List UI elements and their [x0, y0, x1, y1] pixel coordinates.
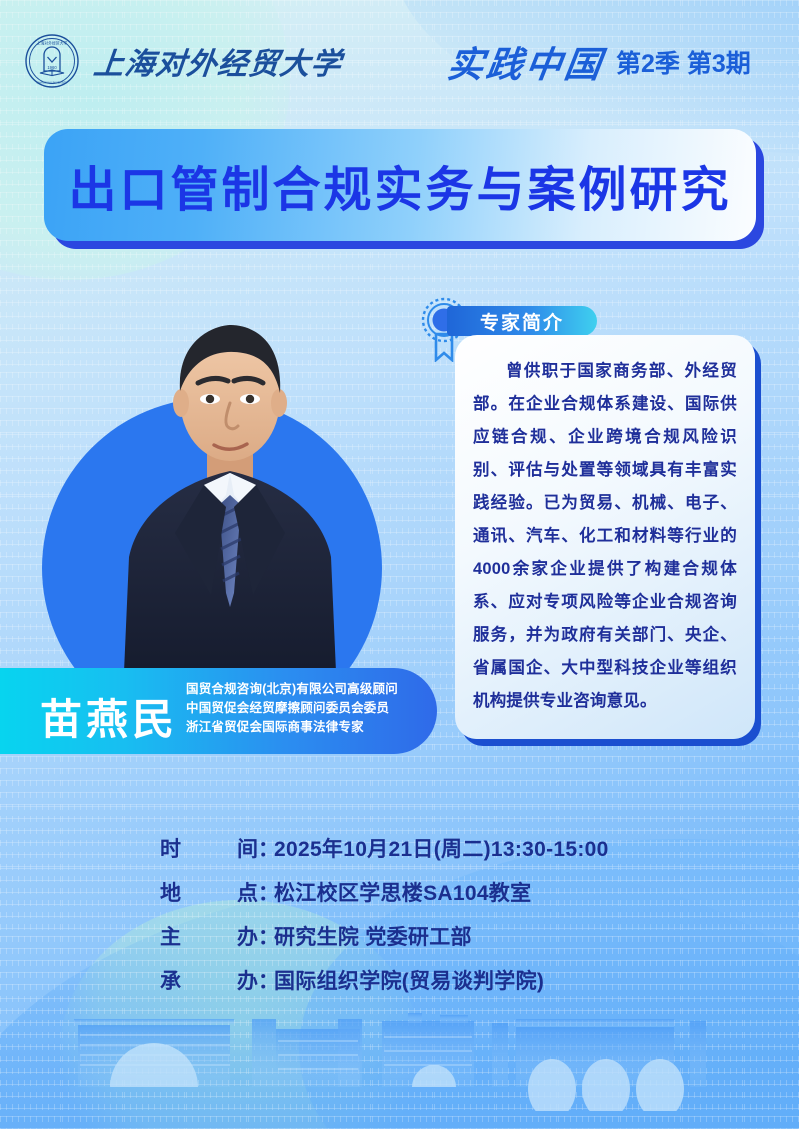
- svg-text:1960: 1960: [47, 65, 57, 70]
- event-detail-colon: ：: [258, 877, 274, 907]
- event-detail-row-time: 时间 ： 2025年10月21日(周二)13:30-15:00: [160, 833, 720, 863]
- event-detail-label-location: 地点: [160, 877, 258, 907]
- speaker-credential-line: 浙江省贸促会国际商事法律专家: [186, 718, 426, 737]
- speaker-credential-line: 中国贸促会经贸摩擦顾问委员会委员: [186, 699, 426, 718]
- event-detail-value-host: 国际组织学院(贸易谈判学院): [274, 965, 544, 995]
- series-name: 实践中国: [444, 36, 607, 88]
- event-detail-value-time: 2025年10月21日(周二)13:30-15:00: [274, 833, 609, 863]
- poster-root: 1960 上海对外经贸大学 SHANGHAI UNIVERSITY 上海对外经贸…: [0, 0, 799, 1129]
- svg-text:上海对外经贸大学: 上海对外经贸大学: [37, 41, 68, 46]
- speaker-credential-line: 国贸合规咨询(北京)有限公司高级顾问: [186, 680, 426, 699]
- university-name: 上海对外经贸大学: [92, 39, 345, 83]
- speaker-credentials: 国贸合规咨询(北京)有限公司高级顾问 中国贸促会经贸摩擦顾问委员会委员 浙江省贸…: [186, 680, 426, 737]
- expert-section-tag-label: 专家简介: [480, 308, 564, 335]
- event-detail-row-organizer: 主办 ： 研究生院 党委研工部: [160, 921, 720, 951]
- university-seal-icon: 1960 上海对外经贸大学 SHANGHAI UNIVERSITY: [24, 33, 80, 89]
- svg-text:SHANGHAI UNIVERSITY: SHANGHAI UNIVERSITY: [37, 81, 68, 85]
- expert-section-tag: 专家简介: [447, 306, 597, 336]
- university-branding: 1960 上海对外经贸大学 SHANGHAI UNIVERSITY 上海对外经贸…: [24, 33, 342, 89]
- expert-bio-card: 曾供职于国家商务部、外经贸部。在企业合规体系建设、国际供应链合规、企业跨境合规风…: [455, 335, 755, 739]
- event-detail-colon: ：: [258, 921, 274, 951]
- event-detail-colon: ：: [258, 833, 274, 863]
- event-detail-colon: ：: [258, 965, 274, 995]
- series-branding: 实践中国 第2季 第3期: [448, 36, 751, 88]
- speaker-name: 苗燕民: [40, 686, 178, 747]
- event-detail-label-organizer: 主办: [160, 921, 258, 951]
- expert-bio-text: 曾供职于国家商务部、外经贸部。在企业合规体系建设、国际供应链合规、企业跨境合规风…: [473, 355, 737, 718]
- poster-header: 1960 上海对外经贸大学 SHANGHAI UNIVERSITY 上海对外经贸…: [0, 0, 799, 118]
- page-title: 出口管制合规实务与案例研究: [68, 150, 731, 220]
- event-detail-label-host: 承办: [160, 965, 258, 995]
- series-episode: 第2季 第3期: [616, 44, 751, 80]
- speaker-portrait: [115, 295, 345, 695]
- campus-buildings-silhouette: [0, 1001, 799, 1111]
- event-detail-row-location: 地点 ： 松江校区学思楼SA104教室: [160, 877, 720, 907]
- event-detail-value-organizer: 研究生院 党委研工部: [274, 921, 472, 951]
- event-detail-value-location: 松江校区学思楼SA104教室: [274, 877, 531, 907]
- title-banner: 出口管制合规实务与案例研究: [44, 129, 756, 241]
- event-detail-row-host: 承办 ： 国际组织学院(贸易谈判学院): [160, 965, 720, 995]
- event-details: 时间 ： 2025年10月21日(周二)13:30-15:00 地点 ： 松江校…: [160, 833, 720, 1009]
- event-detail-label-time: 时间: [160, 833, 258, 863]
